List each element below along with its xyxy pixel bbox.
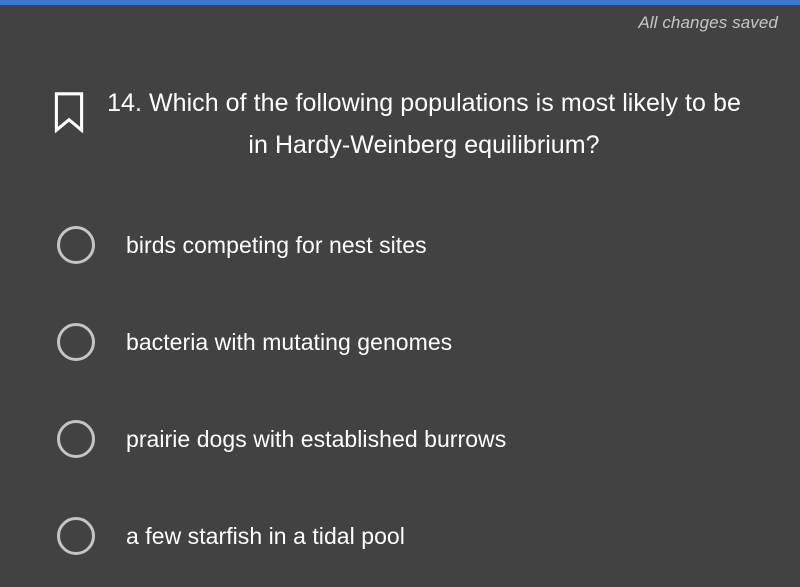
option-label-c: prairie dogs with established burrows [126, 425, 506, 453]
radio-button-a[interactable] [57, 226, 95, 264]
save-status-text: All changes saved [638, 13, 778, 33]
radio-button-c[interactable] [57, 420, 95, 458]
option-row-d[interactable]: a few starfish in a tidal pool [0, 487, 800, 584]
option-row-c[interactable]: prairie dogs with established burrows [0, 390, 800, 487]
option-row-a[interactable]: birds competing for nest sites [0, 196, 800, 293]
radio-button-b[interactable] [57, 323, 95, 361]
option-label-d: a few starfish in a tidal pool [126, 522, 405, 550]
option-label-b: bacteria with mutating genomes [126, 328, 452, 356]
option-label-a: birds competing for nest sites [126, 231, 427, 259]
radio-button-d[interactable] [57, 517, 95, 555]
status-row: All changes saved [0, 5, 800, 41]
option-row-b[interactable]: bacteria with mutating genomes [0, 293, 800, 390]
bookmark-icon[interactable] [52, 91, 86, 133]
question-text: 14. Which of the following populations i… [96, 82, 752, 166]
options-list: birds competing for nest sites bacteria … [0, 196, 800, 584]
question-block: 14. Which of the following populations i… [52, 82, 752, 166]
